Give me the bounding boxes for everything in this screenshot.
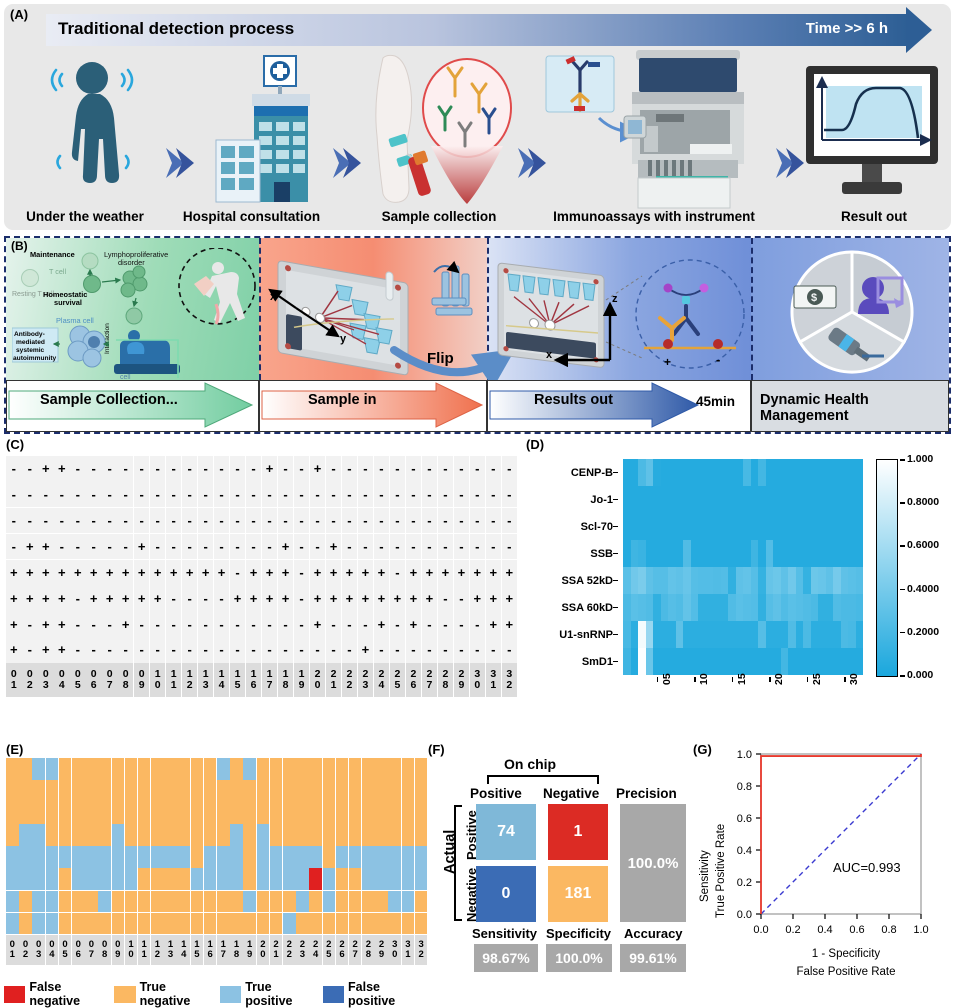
panel-d-cell <box>788 513 796 540</box>
panel-d-x-axis: 051015202530 <box>623 677 863 717</box>
panel-c-cell: - <box>214 611 230 637</box>
panel-e-cell <box>125 868 138 890</box>
panel-c-cell: - <box>486 637 502 663</box>
panel-e-cell <box>151 824 164 846</box>
panel-e-cell <box>6 868 19 890</box>
panel-d-row-tick <box>613 499 618 501</box>
panel-e-cell <box>309 846 322 868</box>
panel-d-cell <box>706 594 714 621</box>
panel-a-step-caption-2: Hospital consultation <box>159 209 344 224</box>
panel-c-cell: - <box>358 482 374 508</box>
panel-e-cell <box>164 868 177 890</box>
panel-c-cell: - <box>70 585 86 611</box>
panel-c-cell: - <box>294 611 310 637</box>
panel-c-cell: + <box>470 585 486 611</box>
panel-c-cell: - <box>406 482 422 508</box>
panel-c-cell: - <box>454 534 470 560</box>
panel-e-cell <box>257 758 270 780</box>
panel-e-cell <box>323 868 336 890</box>
panel-c-cell: - <box>134 456 150 482</box>
svg-text:systemic: systemic <box>16 347 45 354</box>
panel-d-cell <box>691 459 699 486</box>
panel-d-cell <box>653 486 661 513</box>
panel-e-cell <box>388 846 401 868</box>
panel-c-cell: - <box>438 611 454 637</box>
panel-c-row: +-++---+-----------+---+-+----++ <box>6 611 518 637</box>
panel-e-cell <box>349 824 362 846</box>
panel-d-row-tick <box>613 607 618 609</box>
panel-e-legend-label: True positive <box>245 980 308 1008</box>
panel-c-cell: + <box>150 585 166 611</box>
panel-c-cell: + <box>118 560 134 586</box>
panel-e-cell <box>349 868 362 890</box>
panel-e-cell <box>402 891 415 913</box>
panel-e-cell <box>336 868 349 890</box>
panel-d-column <box>856 459 864 675</box>
panel-d-cell <box>781 513 789 540</box>
panel-e-cell <box>204 824 217 846</box>
panel-c-cell: + <box>358 637 374 663</box>
panel-d-cell <box>743 486 751 513</box>
panel-d-cell <box>766 594 774 621</box>
panel-e-cell <box>402 824 415 846</box>
panel-c-column-header: 30 <box>470 663 486 697</box>
panel-e-cell <box>46 824 59 846</box>
panel-c-cell: - <box>422 508 438 534</box>
panel-e-cell <box>283 891 296 913</box>
panel-d-cell <box>646 459 654 486</box>
panel-e-cell <box>46 891 59 913</box>
panel-d-cell <box>668 621 676 648</box>
panel-e-cell <box>336 824 349 846</box>
panel-e-cell <box>283 868 296 890</box>
panel-e-column-header: 30 <box>388 935 401 965</box>
chevron-right-icon-4 <box>772 146 806 180</box>
panel-c-cell: - <box>182 508 198 534</box>
panel-e-column-header: 16 <box>204 935 217 965</box>
panel-d-cell <box>751 540 759 567</box>
panel-c-cell: - <box>454 482 470 508</box>
panel-d-cell <box>646 594 654 621</box>
panel-e-cell <box>19 758 32 780</box>
panel-e-cell <box>151 891 164 913</box>
panel-d-column <box>803 459 811 675</box>
panel-e-cell <box>402 913 415 935</box>
panel-c-cell: + <box>134 585 150 611</box>
panel-e-cell <box>98 868 111 890</box>
panel-d-cell <box>631 648 639 675</box>
panel-f-metric-label-sensitivity: Sensitivity <box>472 926 537 941</box>
panel-e-column-header: 12 <box>151 935 164 965</box>
panel-d-colorbar <box>876 459 898 677</box>
panel-e-cell <box>85 824 98 846</box>
panel-c-cell: - <box>198 637 214 663</box>
panel-e-cell <box>309 891 322 913</box>
panel-d-cell <box>826 648 834 675</box>
panel-g-x-tick-label: 0.4 <box>817 924 832 936</box>
panel-e-cell <box>336 802 349 824</box>
panel-d-cell <box>751 459 759 486</box>
panel-a-step-caption-5: Result out <box>799 209 949 224</box>
panel-e-cell <box>191 802 204 824</box>
panel-d-cell <box>766 513 774 540</box>
panel-d-cell <box>646 486 654 513</box>
panel-e-cell <box>98 891 111 913</box>
panel-e-cell <box>283 846 296 868</box>
panel-d-cell <box>758 459 766 486</box>
panel-d-cell <box>668 513 676 540</box>
panel-c-cell: + <box>310 585 326 611</box>
panel-b-time-note: 45min <box>696 394 735 409</box>
panel-c-cell: - <box>230 482 246 508</box>
panel-c-cell: - <box>102 508 118 534</box>
panel-c-cell: - <box>102 611 118 637</box>
panel-e-cell <box>19 868 32 890</box>
panel-d-cell <box>803 540 811 567</box>
panel-c-cell: - <box>262 637 278 663</box>
panel-d-cell <box>706 540 714 567</box>
panel-d-cell <box>751 513 759 540</box>
panel-d-cell <box>631 567 639 594</box>
panel-e-legend-label: False positive <box>348 980 416 1008</box>
panel-e-grid: 0102030405060708091011121314151617181920… <box>6 758 428 965</box>
panel-d-cell <box>631 513 639 540</box>
panel-e-cell <box>98 802 111 824</box>
panel-e-cell <box>46 780 59 802</box>
panel-e-legend-label: False negative <box>29 980 100 1008</box>
panel-c-cell: - <box>150 456 166 482</box>
panel-d-cell <box>623 459 631 486</box>
panel-d-column <box>848 459 856 675</box>
panel-d-row-label: CENP-B <box>528 459 618 486</box>
panel-e-row <box>6 802 428 824</box>
panel-d-cell <box>818 567 826 594</box>
panel-c-cell: + <box>502 560 518 586</box>
panel-c-column-header: 31 <box>486 663 502 697</box>
panel-d-cell <box>736 621 744 648</box>
panel-e-cell <box>59 780 72 802</box>
panel-c-cell: - <box>54 508 70 534</box>
panel-c-cell: - <box>102 637 118 663</box>
panel-c-cell: - <box>502 637 518 663</box>
panel-e-cell <box>415 824 428 846</box>
panel-g-x-tick-label: 1.0 <box>913 924 928 936</box>
panel-e-column-header: 29 <box>375 935 388 965</box>
panel-c-cell: - <box>102 534 118 560</box>
panel-d-cell <box>811 486 819 513</box>
panel-e-cell <box>349 780 362 802</box>
flip-label: Flip <box>427 350 454 367</box>
panel-c-cell: - <box>342 637 358 663</box>
panel-c-cell: + <box>262 560 278 586</box>
panel-e-cell <box>323 891 336 913</box>
panel-d-cell <box>796 540 804 567</box>
panel-c-cell: + <box>182 560 198 586</box>
panel-d-colorbar-tick <box>900 632 905 634</box>
panel-c-column-header: 11 <box>166 663 182 697</box>
panel-c-cell: + <box>486 560 502 586</box>
panel-e-cell <box>296 913 309 935</box>
svg-text:T cell: T cell <box>49 267 66 276</box>
panel-c-cell: - <box>118 534 134 560</box>
panel-e-cell <box>375 758 388 780</box>
panel-d-cell <box>683 459 691 486</box>
panel-e-cell <box>59 758 72 780</box>
panel-b-chip-workflow: (B) Maintenance Lymphoproliferative diso… <box>4 236 951 434</box>
panel-e-cell <box>59 824 72 846</box>
panel-c-cell: - <box>294 560 310 586</box>
panel-e-cell <box>85 913 98 935</box>
panel-d-column <box>638 459 646 675</box>
panel-e-cell <box>85 802 98 824</box>
panel-d-cell <box>803 486 811 513</box>
panel-g-y-tick-label: 1.0 <box>737 749 752 761</box>
panel-c-cell: + <box>198 560 214 586</box>
panel-d-cell <box>848 513 856 540</box>
panel-e-cell <box>309 780 322 802</box>
panel-c-cell: + <box>262 585 278 611</box>
panel-g-xlabel-1: 1 - Specificity <box>761 948 931 960</box>
panel-e-cell <box>85 891 98 913</box>
panel-c-cell: - <box>470 456 486 482</box>
panel-c-cell: + <box>6 637 22 663</box>
panel-d-cell <box>758 621 766 648</box>
panel-e-cell <box>138 824 151 846</box>
panel-d-cell <box>728 648 736 675</box>
panel-e-column-header: 32 <box>415 935 428 965</box>
panel-d-cell <box>841 594 849 621</box>
panel-c-cell: - <box>38 482 54 508</box>
panel-e-cell <box>323 758 336 780</box>
panel-c-cell: + <box>358 560 374 586</box>
panel-e-cell <box>402 758 415 780</box>
panel-d-column <box>788 459 796 675</box>
panel-c-cell: - <box>326 637 342 663</box>
panel-d-cell <box>721 594 729 621</box>
panel-e-cell <box>191 780 204 802</box>
panel-d-cell <box>773 594 781 621</box>
panel-e-cell <box>230 780 243 802</box>
panel-e-cell <box>32 868 45 890</box>
panel-d-cell <box>758 513 766 540</box>
panel-d-cell <box>856 567 864 594</box>
panel-d-cell <box>728 567 736 594</box>
panel-d-cell <box>653 648 661 675</box>
panel-c-cell: - <box>214 508 230 534</box>
panel-e-cell <box>349 802 362 824</box>
panel-e-cell <box>112 913 125 935</box>
panel-d-cell <box>848 648 856 675</box>
panel-d-cell <box>736 513 744 540</box>
panel-d-heatmap-matrix <box>623 459 863 675</box>
panel-d-cell <box>781 621 789 648</box>
panel-e-cell <box>19 780 32 802</box>
panel-d-cell <box>706 567 714 594</box>
panel-d-cell <box>638 513 646 540</box>
panel-d-column <box>736 459 744 675</box>
panel-e-legend: False negativeTrue negativeTrue positive… <box>4 980 430 1008</box>
panel-e-cell <box>32 913 45 935</box>
panel-d-row-label: SSA 60kD <box>528 594 618 621</box>
panel-e-cell <box>323 780 336 802</box>
panel-c-cell: - <box>70 482 86 508</box>
panel-d-label: (D) <box>526 437 544 452</box>
panel-c-cell: - <box>38 508 54 534</box>
panel-c-cell: + <box>38 585 54 611</box>
panel-e-cell <box>349 913 362 935</box>
panel-e-cell <box>112 891 125 913</box>
panel-c-cell: - <box>6 482 22 508</box>
panel-g-x-tick-label: 0.0 <box>753 924 768 936</box>
panel-c-cell: + <box>54 611 70 637</box>
panel-d-cell <box>706 513 714 540</box>
panel-d-cell <box>631 621 639 648</box>
health-management-icon: $ <box>766 248 938 378</box>
panel-c-column-header: 25 <box>390 663 406 697</box>
panel-d-cell <box>818 648 826 675</box>
panel-e-cell <box>375 868 388 890</box>
panel-c-column-header: 17 <box>262 663 278 697</box>
panel-e-cell <box>191 824 204 846</box>
panel-c-cell: - <box>86 637 102 663</box>
panel-g-y-tick-label: 0.4 <box>737 845 752 857</box>
panel-c-cell: + <box>390 585 406 611</box>
panel-e-cell <box>362 868 375 890</box>
panel-d-cell <box>713 513 721 540</box>
panel-e-cell <box>32 802 45 824</box>
panel-c-cell: - <box>326 508 342 534</box>
panel-e-cell <box>72 891 85 913</box>
panel-d-cell <box>848 621 856 648</box>
panel-d-cell <box>788 486 796 513</box>
panel-e-cell <box>138 913 151 935</box>
panel-c-cell: + <box>166 560 182 586</box>
panel-e-cell <box>296 891 309 913</box>
panel-c-cell: + <box>326 585 342 611</box>
panel-e-cell <box>177 802 190 824</box>
panel-c-cell: + <box>22 585 38 611</box>
panel-d-cell <box>766 540 774 567</box>
panel-d-cell <box>818 513 826 540</box>
panel-c-cell: - <box>454 585 470 611</box>
panel-e-cell <box>362 780 375 802</box>
panel-e-cell <box>85 846 98 868</box>
panel-d-cell <box>653 567 661 594</box>
panel-c-row: ++++-+++++----++++-++++++++--+++ <box>6 585 518 611</box>
panel-d-cell <box>781 567 789 594</box>
panel-d-cell <box>668 459 676 486</box>
panel-d-cell <box>676 648 684 675</box>
panel-c-column-header: 26 <box>406 663 422 697</box>
panel-e-cell <box>164 913 177 935</box>
panel-d-cell <box>721 513 729 540</box>
panel-e-column-header: 02 <box>19 935 32 965</box>
panel-d-cell <box>623 594 631 621</box>
panel-c-cell: - <box>54 482 70 508</box>
panel-d-cell <box>623 621 631 648</box>
panel-d-column <box>706 459 714 675</box>
panel-d-row-label: SSB <box>528 540 618 567</box>
panel-d-cell <box>796 621 804 648</box>
panel-d-cell <box>773 513 781 540</box>
panel-d-cell <box>841 486 849 513</box>
panel-c-cell: - <box>166 534 182 560</box>
panel-d-cell <box>713 540 721 567</box>
panel-d-colorbar-label: 0.6000 <box>907 539 939 551</box>
panel-c-cell: - <box>294 482 310 508</box>
panel-c-cell: + <box>278 534 294 560</box>
panel-e-column-header: 11 <box>138 935 151 965</box>
panel-c-cell: + <box>86 560 102 586</box>
panel-d-cell <box>833 621 841 648</box>
panel-c-column-header: 15 <box>230 663 246 697</box>
panel-e-column-header: 05 <box>59 935 72 965</box>
panel-d-cell <box>713 648 721 675</box>
panel-e-cell <box>32 780 45 802</box>
panel-d-cell <box>676 594 684 621</box>
panel-e-cell <box>257 802 270 824</box>
panel-e-cell <box>46 758 59 780</box>
panel-c-cell: - <box>502 508 518 534</box>
panel-e-cell <box>46 802 59 824</box>
panel-c-column-header: 12 <box>182 663 198 697</box>
panel-e-column-header: 26 <box>336 935 349 965</box>
panel-d-cell <box>833 513 841 540</box>
panel-d-row-label: SSA 52kD <box>528 567 618 594</box>
panel-a-step-caption-3: Sample collection <box>349 209 529 224</box>
panel-c-cell: - <box>198 508 214 534</box>
panel-c-cell: - <box>470 611 486 637</box>
panel-c-cell: + <box>214 560 230 586</box>
svg-text:y: y <box>340 333 347 345</box>
panel-e-cell <box>32 758 45 780</box>
panel-c-column-header: 32 <box>502 663 518 697</box>
panel-b-bar-label-3: Results out <box>534 392 613 408</box>
panel-c-cell: + <box>6 611 22 637</box>
onchip-brace-icon <box>484 773 604 785</box>
panel-d-cell <box>638 567 646 594</box>
panel-c-cell: - <box>326 482 342 508</box>
panel-e-column-header: 07 <box>85 935 98 965</box>
svg-text:Maintenance: Maintenance <box>30 250 75 259</box>
panel-e-cell <box>72 913 85 935</box>
panel-c-cell: - <box>294 508 310 534</box>
panel-c-column-header: 28 <box>438 663 454 697</box>
panel-c-row: -++-----+--------+--+----------- <box>6 534 518 560</box>
panel-e-cell <box>19 846 32 868</box>
panel-e-cell <box>415 846 428 868</box>
panel-c-cell: - <box>246 534 262 560</box>
panel-g-y-tick-label: 0.6 <box>737 813 752 825</box>
svg-text:x: x <box>546 349 553 361</box>
panel-g-y-tick-label: 0.0 <box>737 909 752 921</box>
svg-text:mediated: mediated <box>16 339 45 346</box>
panel-e-cell <box>32 824 45 846</box>
panel-f-col-header-positive: Positive <box>470 786 522 801</box>
panel-d-cell <box>826 486 834 513</box>
panel-e-cell <box>270 868 283 890</box>
panel-e-cell <box>125 913 138 935</box>
panel-c-cell: - <box>406 637 422 663</box>
panel-d-cell <box>796 594 804 621</box>
panel-d-cell <box>683 594 691 621</box>
panel-c-cell: + <box>118 585 134 611</box>
panel-d-cell <box>728 513 736 540</box>
panel-d-cell <box>826 567 834 594</box>
panel-e-cell <box>375 913 388 935</box>
panel-d-cell <box>751 567 759 594</box>
panel-d-cell <box>653 540 661 567</box>
